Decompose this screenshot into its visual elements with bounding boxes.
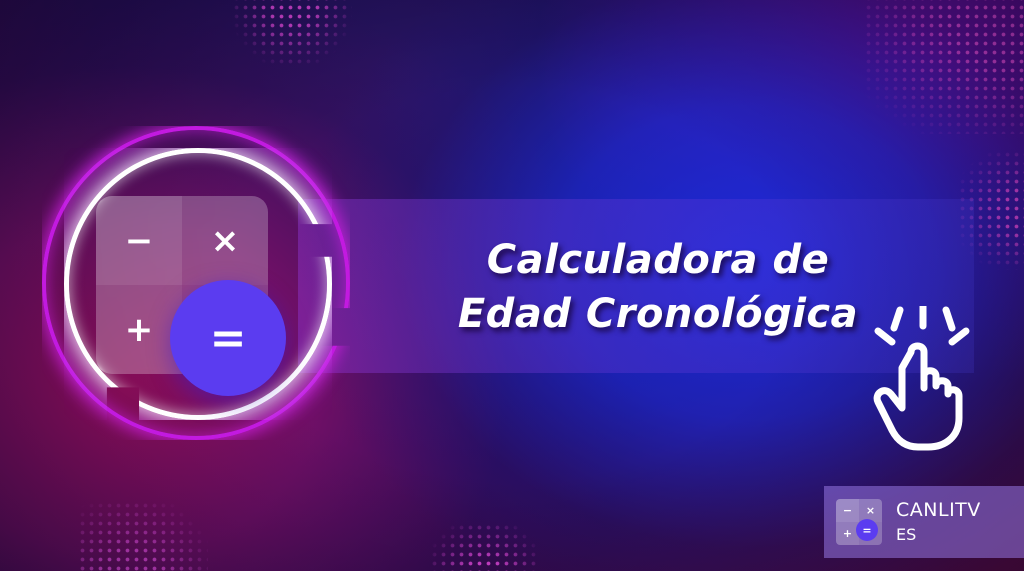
calculator-key-equals: = — [170, 280, 286, 396]
watermark-key-equals: = — [856, 519, 878, 541]
watermark-language: ES — [896, 524, 981, 546]
watermark-text: CANLITV ES — [896, 498, 981, 545]
page-title: Calculadora de Edad Cronológica — [398, 234, 918, 341]
calculator-key-times: × — [182, 196, 268, 285]
page-title-line-1: Calculadora de — [398, 234, 918, 288]
calculator-key-plus: + — [96, 285, 182, 374]
watermark-badge: − × + = CANLITV ES — [824, 486, 1024, 558]
promo-banner-image: − × + = Calculadora de Edad Cronológica … — [0, 0, 1024, 571]
watermark-key-minus: − — [836, 499, 859, 522]
pointing-hand-click-icon — [866, 306, 976, 451]
watermark-key-plus: + — [836, 522, 859, 545]
watermark-brand: CANLITV — [896, 498, 981, 524]
calculator-key-minus: − — [96, 196, 182, 285]
page-title-line-2: Edad Cronológica — [398, 288, 918, 342]
watermark-key-times: × — [859, 499, 882, 522]
watermark-calculator-icon: − × + = — [836, 499, 882, 545]
